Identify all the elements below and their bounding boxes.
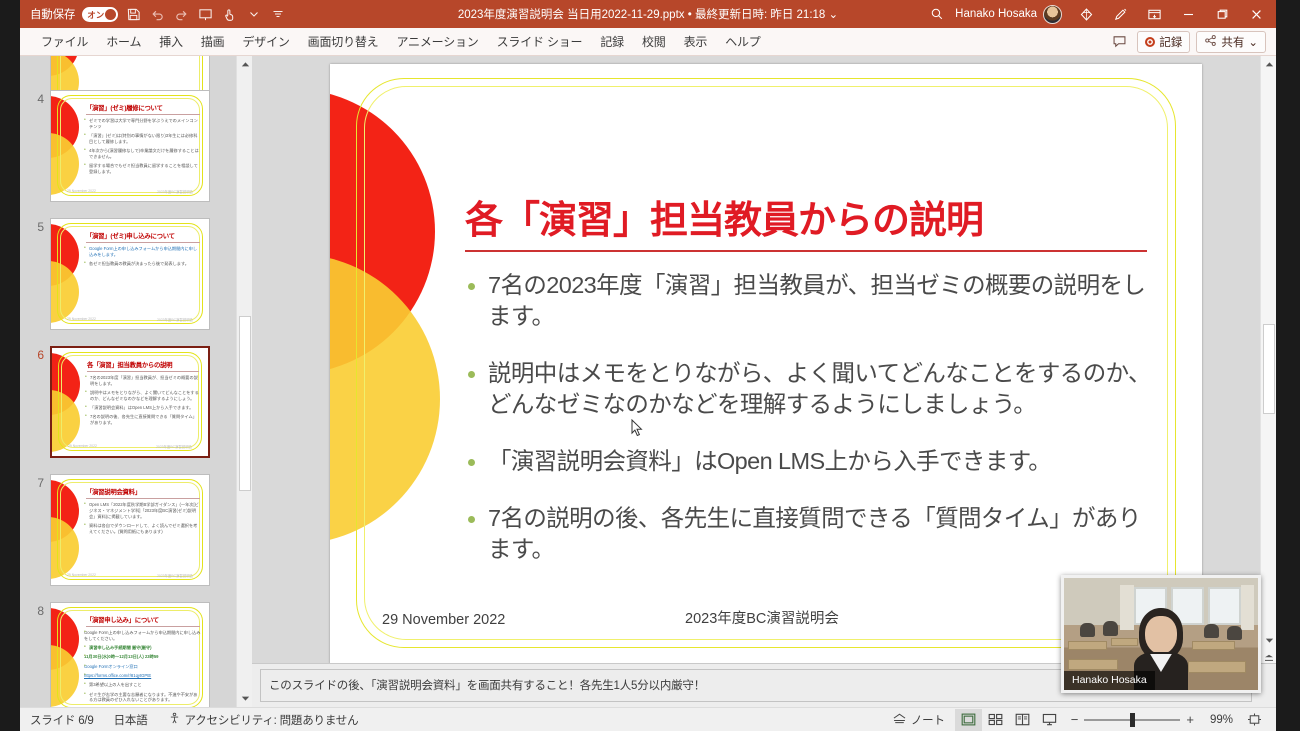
mini-bullet: 第3希望以上の人を出すこと: [84, 682, 201, 688]
slide-thumb[interactable]: 「演習」(ゼミ)履修について ゼミでの学習は大学で専門分野を学ぶうえでのメインコ…: [50, 90, 210, 202]
mini-bullet: 7名の2023年度「演習」担当教員が、担当ゼミの概要の説明をします。: [85, 375, 200, 387]
mini-body: ゼミでの学習は大学で専門分野を学ぶうえでのメインコンテンツ 「演習」(ゼミ)は(…: [84, 118, 201, 189]
mini-footer: 29 November 2022 2023年度BC演習説明会: [67, 317, 193, 322]
mini-footer-left: 29 November 2022: [67, 317, 96, 322]
accessibility-icon: [168, 712, 181, 728]
redo-icon[interactable]: [173, 6, 190, 23]
share-button[interactable]: 共有 ⌄: [1196, 31, 1266, 53]
zoom-knob[interactable]: [1130, 713, 1135, 727]
mini-footer-right: 2023年度BC演習説明会: [157, 189, 193, 194]
notes-icon: [892, 712, 907, 728]
slide-footer-title: 2023年度BC演習説明会: [685, 607, 839, 628]
mini-footer: 29 November 2022 2023年度BC演習説明会: [68, 444, 192, 449]
webcam-video-overlay[interactable]: Hanako Hosaka: [1061, 575, 1261, 693]
mini-bullet: 4年次から(演習履修なしで)卒業論文だけを履修することはできません。: [84, 148, 201, 160]
document-title[interactable]: 2023年度演習説明会 当日用2022-11-29.pptx • 最終更新日時:…: [458, 9, 825, 21]
mini-bullet: 説明中はメモをとりながら、よく聞いてどんなことをするのか、どんなゼミなのかなどを…: [85, 390, 200, 402]
student: [1103, 621, 1119, 637]
undo-icon[interactable]: [149, 6, 166, 23]
mini-bullet: 11月30日(水)0時〜12月13日(人) 23時59: [84, 654, 201, 660]
scrollbar-thumb[interactable]: [239, 316, 251, 491]
thumbnail-pane-scrollbar[interactable]: [236, 56, 252, 707]
share-label: 共有: [1221, 34, 1244, 50]
tab-record[interactable]: 記録: [591, 30, 633, 53]
slide-bullet: 「演習説明会資料」はOpen LMS上から入手できます。: [458, 446, 1162, 477]
quick-access-toolbar: 自動保存 オン: [20, 6, 286, 23]
webcam-name-label: Hanako Hosaka: [1064, 671, 1155, 690]
share-chevron-down-icon[interactable]: ⌄: [1248, 35, 1258, 49]
slide-bullet: 7名の2023年度「演習」担当教員が、担当ゼミの概要の説明をします。: [458, 270, 1162, 332]
notes-button[interactable]: ノート: [882, 712, 955, 728]
slide-counter[interactable]: スライド 6/9: [20, 712, 104, 728]
slideshow-icon[interactable]: [1036, 709, 1063, 731]
mini-bullet: Google Formオンライン窓口: [84, 664, 201, 670]
mini-footer: 29 November 2022 2023年度BC演習説明会: [67, 189, 193, 194]
diamond-icon[interactable]: [1070, 0, 1102, 28]
tab-view[interactable]: 表示: [675, 30, 717, 53]
mini-footer: 29 November 2022 2023年度BC演習説明会: [67, 573, 193, 578]
slide-bullet: 7名の説明の後、各先生に直接質問できる「質問タイム」があります。: [458, 503, 1162, 565]
mini-bullet-link[interactable]: https://forms.office.com/r/81qytGPtE: [84, 673, 201, 679]
user-name-label[interactable]: Hanako Hosaka: [955, 8, 1041, 20]
desktop-gutter-left: [0, 0, 20, 731]
thumbnail-number: 4: [20, 90, 50, 106]
record-button[interactable]: 記録: [1137, 31, 1190, 53]
scrollbar-thumb[interactable]: [1263, 324, 1275, 414]
fit-to-window-icon[interactable]: [1241, 709, 1268, 731]
mini-slide: 「演習」(ゼミ)履修について ゼミでの学習は大学で専門分野を学ぶうえでのメインコ…: [51, 91, 209, 201]
thumbnail-item-8[interactable]: 8 「演習申し込み」について Google Form上の申し込みフォームから申込…: [20, 602, 236, 707]
mini-title: 「演習」(ゼミ)履修について: [86, 103, 199, 112]
mini-footer-right: 2023年度BC演習説明会: [156, 444, 192, 449]
slide-title[interactable]: 各「演習」担当教員からの説明: [465, 189, 1147, 244]
slide-body-placeholder[interactable]: 7名の2023年度「演習」担当教員が、担当ゼミの概要の説明をします。 説明中はメ…: [458, 270, 1162, 591]
powerpoint-window-root: 自動保存 オン: [0, 0, 1300, 731]
curtain: [1241, 585, 1255, 630]
minimize-icon[interactable]: [1172, 0, 1204, 28]
zoom-out-button[interactable]: −: [1071, 712, 1079, 727]
desk: [1068, 641, 1107, 650]
record-label: 記録: [1159, 34, 1182, 50]
mini-title-rule: [86, 114, 200, 115]
ribbon-tab-strip: ファイル ホーム 挿入 描画 デザイン 画面切り替え アニメーション スライド …: [20, 28, 1276, 56]
mini-title: 「演習説明会資料」: [86, 487, 199, 496]
mini-bullet: 「演習説明会資料」はOpen LMS上から入手できます。: [85, 405, 200, 411]
thumbnail-number: 5: [20, 218, 50, 234]
window-pane: [1208, 587, 1241, 625]
zoom-track[interactable]: [1084, 719, 1180, 721]
thumbnail-number: 6: [20, 346, 50, 362]
toggle-knob: [105, 9, 116, 20]
desk: [1188, 661, 1246, 673]
tab-help[interactable]: ヘルプ: [716, 30, 769, 53]
application-window: 自動保存 オン: [20, 0, 1276, 731]
pen-icon[interactable]: [1104, 0, 1136, 28]
reading-view-icon[interactable]: [1009, 709, 1036, 731]
mini-body: Google Form上の申し込みフォームから申込期間内に申し込みをしてください…: [84, 630, 201, 701]
restore-icon[interactable]: [1206, 0, 1238, 28]
tab-file[interactable]: ファイル: [32, 30, 97, 53]
mini-body: Open LMS「2022年度秋学期B学部ガイダンス」(一年次[ビジネス・マネジ…: [84, 502, 201, 573]
desk: [1068, 659, 1118, 670]
tab-insert[interactable]: 挿入: [150, 30, 192, 53]
zoom-in-button[interactable]: +: [1186, 712, 1194, 727]
desk: [1192, 641, 1235, 650]
tab-design[interactable]: デザイン: [233, 30, 298, 53]
slide-pane-scrollbar[interactable]: [1260, 56, 1276, 707]
notes-label: ノート: [911, 712, 945, 728]
tab-slideshow[interactable]: スライド ショー: [488, 30, 592, 53]
slide-sorter-icon[interactable]: [982, 709, 1009, 731]
qat-more-icon[interactable]: [269, 6, 286, 23]
thumbnail-item-5[interactable]: 5 「演習」(ゼミ)申し込みについて Google Form上の申し込みフォーム…: [20, 218, 236, 330]
search-icon[interactable]: [921, 0, 953, 28]
slide-thumbnail-pane[interactable]: 3 29 November 2022 2023年度BC演習説明会: [20, 56, 252, 707]
thumbnail-number: 7: [20, 474, 50, 490]
face: [1145, 616, 1177, 654]
mini-bullet: 「演習」(ゼミ)は(特別の事情がない限り)3年生には必修科目として履修します。: [84, 133, 201, 145]
autosave-label: 自動保存: [30, 6, 75, 22]
autosave-toggle[interactable]: オン: [82, 7, 118, 22]
mini-title-rule: [86, 242, 200, 243]
accessibility-label: アクセシビリティ: 問題ありません: [185, 712, 359, 728]
chevron-down-icon[interactable]: [245, 6, 262, 23]
tab-transitions[interactable]: 画面切り替え: [299, 30, 388, 53]
comment-icon[interactable]: [1108, 32, 1131, 51]
mini-bullet: ゼミでの学習は大学で専門分野を学ぶうえでのメインコンテンツ: [84, 118, 201, 130]
student: [1204, 624, 1220, 639]
present-icon[interactable]: [197, 6, 214, 23]
mini-bullet: 資料は各自でダウンロードして、よく読んでゼミ選択を考えてください。(質問用紙にも…: [84, 523, 201, 535]
mini-body: Google Form上の申し込みフォームから申込期間内に申し込みをします。 各…: [84, 246, 201, 317]
mini-footer-right: 2023年度BC演習説明会: [157, 317, 193, 322]
share-icon: [1204, 34, 1217, 50]
zoom-slider[interactable]: − +: [1063, 712, 1202, 727]
save-icon[interactable]: [125, 6, 142, 23]
mini-bullet: 演習申し込み手続期間 厳守(厳守): [84, 645, 201, 651]
student: [1080, 623, 1096, 638]
mini-title: 「演習申し込み」について: [86, 615, 199, 624]
slide-thumb[interactable]: 「演習」(ゼミ)申し込みについて Google Form上の申し込みフォームから…: [50, 218, 210, 330]
zoom-level-label[interactable]: 99%: [1202, 714, 1241, 726]
mini-title-rule: [86, 498, 200, 499]
curtain: [1120, 585, 1134, 630]
mini-bullet: 各ゼミ担当教員の教員が決まったら後で発表します。: [84, 261, 201, 267]
mini-bullet: Open LMS「2022年度秋学期B学部ガイダンス」(一年次[ビジネス・マネジ…: [84, 502, 201, 519]
thumbnail-item-4[interactable]: 4 「演習」(ゼミ)履修について ゼミでの学習は大学で専門分野を学ぶうえでのメイ…: [20, 90, 236, 202]
mini-title: 「演習」(ゼミ)申し込みについて: [86, 231, 199, 240]
mini-footer-right: 2023年度BC演習説明会: [157, 573, 193, 578]
mini-title-rule: [86, 626, 200, 627]
tab-draw[interactable]: 描画: [192, 30, 234, 53]
slide-thumb[interactable]: 「演習説明会資料」 Open LMS「2022年度秋学期B学部ガイダンス」(一年…: [50, 474, 210, 586]
language-indicator[interactable]: 日本語: [104, 712, 158, 728]
close-icon[interactable]: [1240, 0, 1272, 28]
status-bar: スライド 6/9 日本語 アクセシビリティ: 問題ありません ノート: [20, 707, 1276, 731]
slide-thumb-selected[interactable]: 各「演習」担当教員からの説明 7名の2023年度「演習」担当教員が、担当ゼミの概…: [50, 346, 210, 458]
mini-bullet: 留学する場合でもゼミ担当教員に留学することを相談して登録します。: [84, 163, 201, 175]
student: [1227, 626, 1243, 639]
mini-footer-left: 29 November 2022: [68, 444, 97, 449]
mini-body: 7名の2023年度「演習」担当教員が、担当ゼミの概要の説明をします。 説明中はメ…: [85, 375, 200, 444]
ribbon-display-icon[interactable]: [1138, 0, 1170, 28]
mini-bullet: Google Form上の申し込みフォームから申込期間内に申し込みをしてください…: [84, 630, 201, 642]
slide-title-rule: [465, 250, 1147, 252]
mini-title-rule: [87, 371, 199, 372]
scroll-up-arrow-icon[interactable]: [1261, 56, 1276, 73]
mini-slide: 各「演習」担当教員からの説明 7名の2023年度「演習」担当教員が、担当ゼミの概…: [52, 348, 208, 456]
mini-bullet: 7名の説明の後、各先生に直接質問できる「質問タイム」があります。: [85, 414, 200, 426]
mini-footer-left: 29 November 2022: [67, 189, 96, 194]
slide-footer-date: 29 November 2022: [382, 612, 505, 628]
normal-view-icon[interactable]: [955, 709, 982, 731]
tab-review[interactable]: 校閲: [633, 30, 675, 53]
tab-animations[interactable]: アニメーション: [387, 30, 487, 53]
mini-footer-left: 29 November 2022: [67, 573, 96, 578]
mini-slide: 「演習申し込み」について Google Form上の申し込みフォームから申込期間…: [51, 603, 209, 707]
tab-home[interactable]: ホーム: [97, 30, 150, 53]
thumbnail-number: 8: [20, 602, 50, 618]
record-icon: [1145, 37, 1155, 47]
accessibility-status[interactable]: アクセシビリティ: 問題ありません: [158, 712, 369, 728]
mini-bullet: ゼミ生が志学の主要な志願者になります。不進や不安がある方は教員のぜひ入れないこと…: [84, 692, 201, 704]
scroll-down-arrow-icon[interactable]: [237, 690, 252, 707]
ribbon-right-actions: 記録 共有 ⌄: [1108, 31, 1276, 53]
mini-slide: 「演習説明会資料」 Open LMS「2022年度秋学期B学部ガイダンス」(一年…: [51, 475, 209, 585]
slide-thumb[interactable]: 「演習申し込み」について Google Form上の申し込みフォームから申込期間…: [50, 602, 210, 707]
status-bar-right: ノート − +: [882, 709, 1276, 731]
desktop-gutter-right: [1276, 0, 1300, 731]
title-bar-right: Hanako Hosaka: [921, 0, 1276, 28]
slide-bullet: 説明中はメモをとりながら、よく聞いてどんなことをするのか、どんなゼミなのかなどを…: [458, 358, 1162, 420]
title-chevron-down-icon[interactable]: ⌄: [829, 9, 839, 21]
mini-title: 各「演習」担当教員からの説明: [87, 360, 198, 369]
avatar[interactable]: [1043, 5, 1062, 24]
previous-slide-icon[interactable]: [1261, 631, 1276, 649]
touch-mode-icon[interactable]: [221, 6, 238, 23]
current-slide-canvas[interactable]: 各「演習」担当教員からの説明 7名の2023年度「演習」担当教員が、担当ゼミの概…: [330, 64, 1202, 664]
mini-bullet: Google Form上の申し込みフォームから申込期間内に申し込みをします。: [84, 246, 201, 258]
autosave-state-label: オン: [87, 9, 104, 21]
mini-slide: 「演習」(ゼミ)申し込みについて Google Form上の申し込みフォームから…: [51, 219, 209, 329]
thumbnail-item-6[interactable]: 6 各「演習」担当教員からの説明 7名の2023年度「演習」担当教員が、担当ゼミ…: [20, 346, 236, 458]
scroll-up-arrow-icon[interactable]: [237, 56, 252, 73]
thumbnail-item-7[interactable]: 7 「演習説明会資料」 Open LMS「2022年度秋学期B学部ガイダンス」(…: [20, 474, 236, 586]
title-bar: 自動保存 オン: [20, 0, 1276, 28]
